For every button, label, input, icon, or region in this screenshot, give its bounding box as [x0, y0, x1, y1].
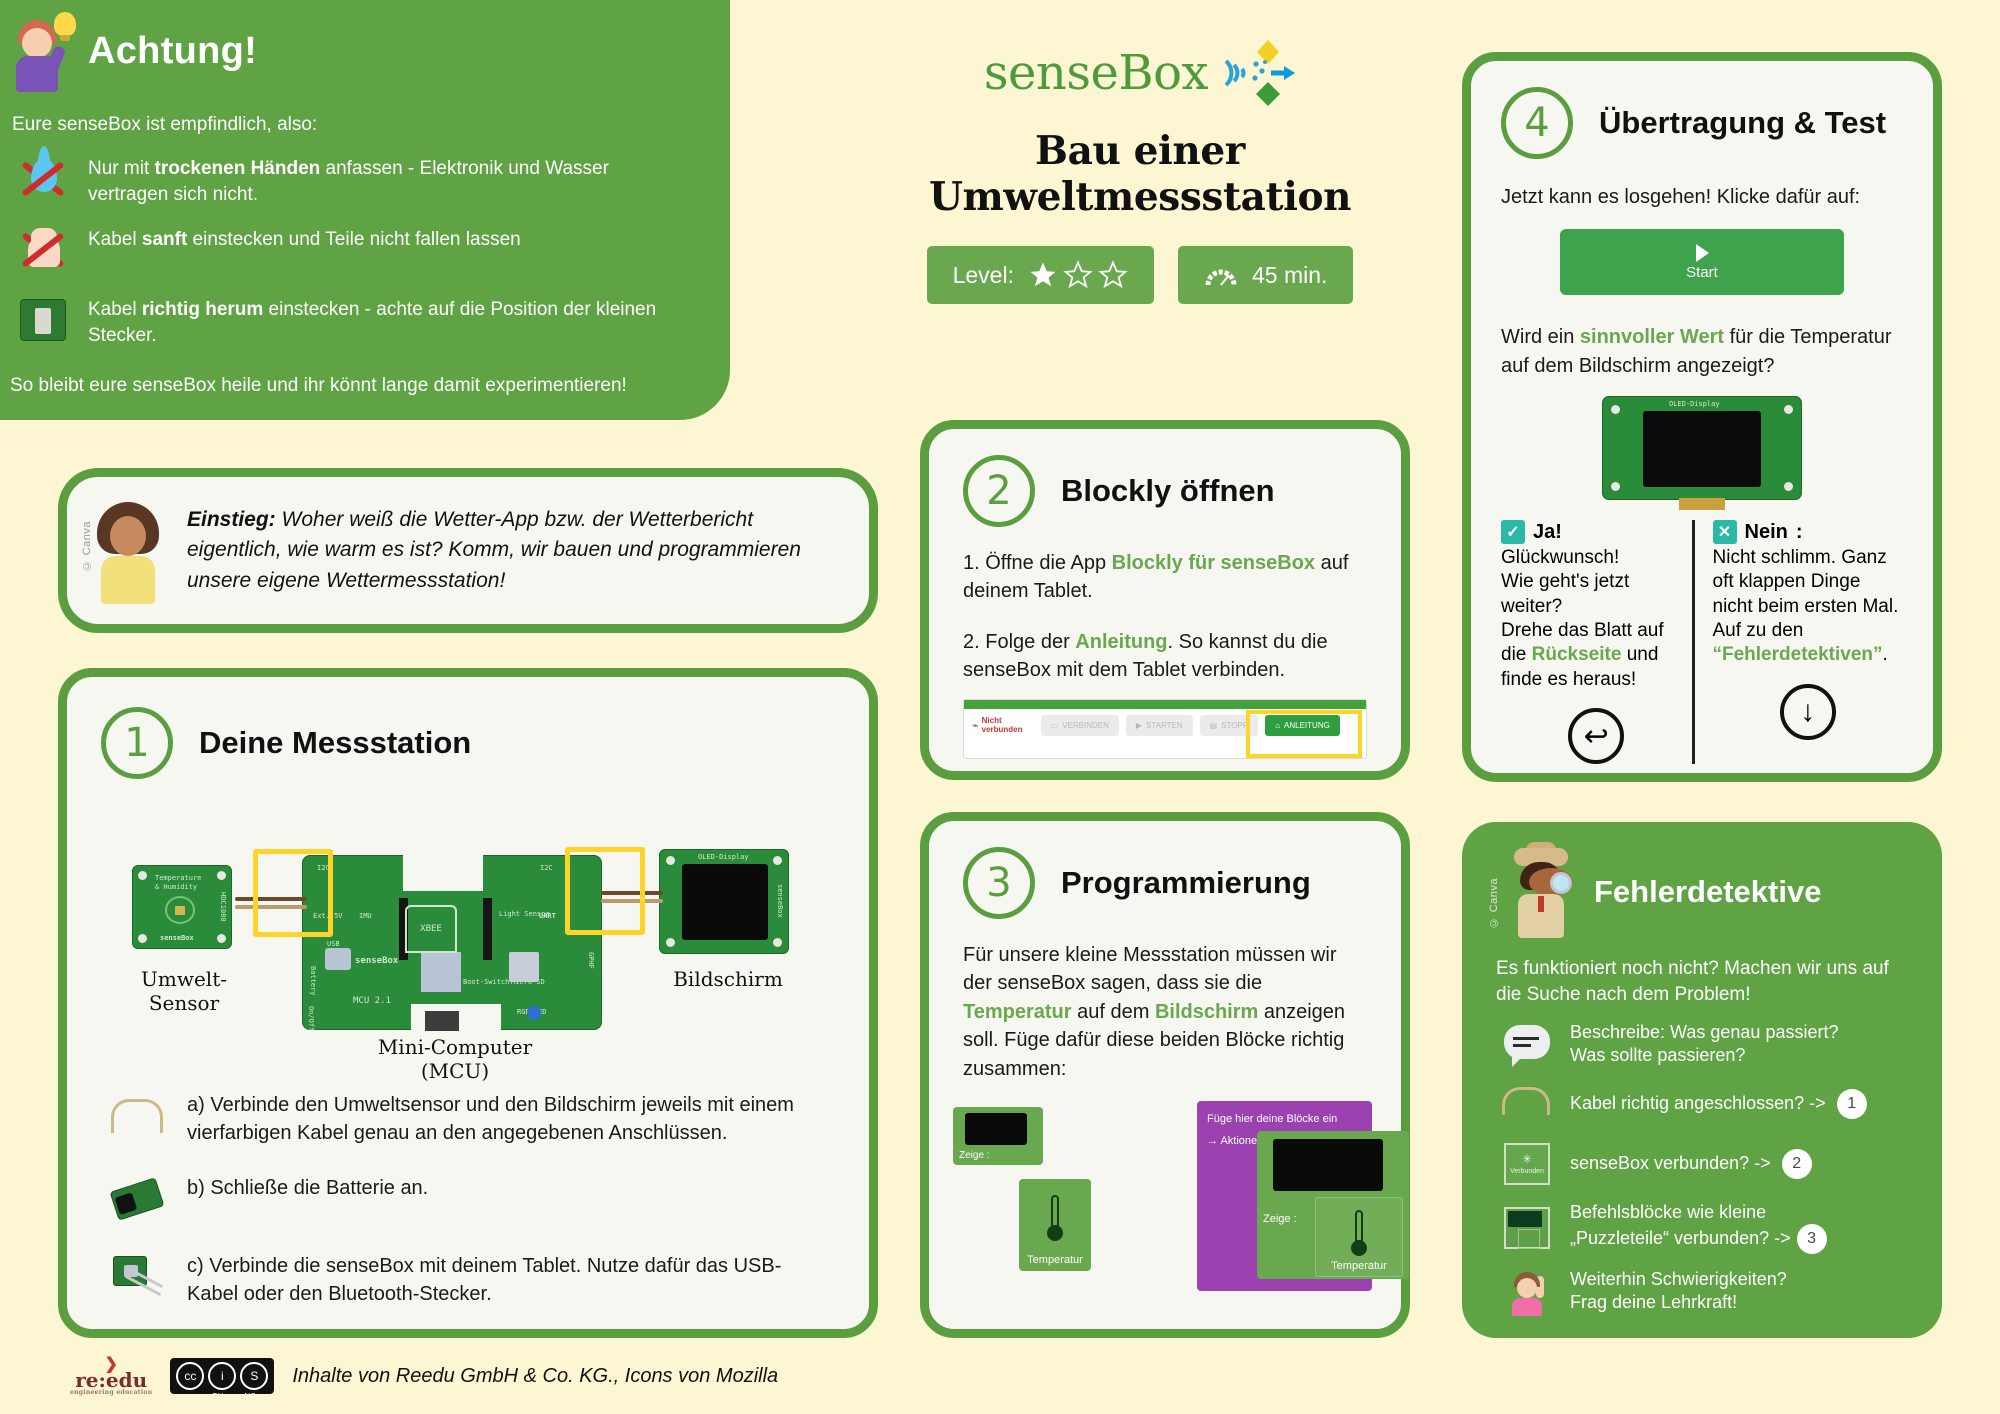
- blockly-blocks-illustration: Zeige : Temperatur Füge hier deine Blöck…: [929, 1101, 1401, 1301]
- yes-body: Glückwunsch! Wie geht's jetzt weiter? Dr…: [1501, 546, 1692, 692]
- turn-over-icon: ↩: [1568, 708, 1624, 764]
- section-3-title: Programmierung: [1061, 865, 1311, 901]
- fehlerdetektive-panel: © Canva Fehlerdetektive Es funktioniert …: [1462, 822, 1942, 1338]
- footer: ❯ re:edu engineering education cc i BY S…: [70, 1356, 778, 1396]
- bluetooth-disconnected-icon: ⌁: [972, 719, 979, 732]
- section-2-header: 2 Blockly öffnen: [929, 429, 1401, 527]
- water-drop-crossed-icon: [16, 152, 70, 206]
- yes-header: ✓ Ja!: [1501, 520, 1692, 544]
- cable-icon: [107, 1091, 169, 1143]
- section-2-step2: 2. Folge der Anleitung. So kannst du die…: [929, 628, 1401, 685]
- lightbulb-person-icon: [6, 10, 76, 92]
- duration-text: 45 min.: [1252, 262, 1327, 289]
- fehlerdetektive-header: Fehlerdetektive: [1462, 822, 1942, 940]
- sensebox-logo: senseBox: [880, 40, 1400, 106]
- section-4-card: 4 Übertragung & Test Jetzt kann es losge…: [1462, 52, 1942, 782]
- section-1-header: 1 Deine Messstation: [67, 677, 869, 779]
- play-icon: ▶: [1136, 721, 1142, 730]
- fehlerdetektive-lead: Es funktioniert noch nicht? Machen wir u…: [1462, 940, 1942, 1007]
- warning-row-water: Nur mit trockenen Händen anfassen - Elek…: [0, 136, 730, 207]
- warning-text-water: Nur mit trockenen Händen anfassen - Elek…: [88, 152, 690, 207]
- section-3-text: Für unsere kleine Messstation müssen wir…: [929, 919, 1401, 1083]
- einstieg-body: Woher weiß die Wetter-App bzw. der Wette…: [187, 508, 801, 592]
- section-4-title: Übertragung & Test: [1599, 105, 1886, 141]
- section-4-question: Wird ein sinnvoller Wert für die Tempera…: [1471, 323, 1933, 380]
- checklist-text: senseBox verbunden? -> 2: [1570, 1149, 1812, 1179]
- footer-credit-text: Inhalte von Reedu GmbH & Co. KG., Icons …: [292, 1365, 778, 1388]
- achtung-intro: Eure senseBox ist empfindlich, also:: [0, 92, 730, 136]
- step-b-text: b) Schließe die Batterie an.: [187, 1174, 428, 1202]
- step-a-text: a) Verbinde den Umweltsensor und den Bil…: [187, 1091, 829, 1148]
- oled-display-board: OLED-Display senseBox: [659, 849, 789, 954]
- checklist-text: Befehlsblöcke wie kleine „Puzzleteile“ v…: [1570, 1201, 1827, 1254]
- guide-button-highlight: [1246, 710, 1362, 758]
- poster-root: © Canva Achtung! Eure senseBox ist empfi…: [0, 0, 2000, 1414]
- puzzle-blocks-icon: [1500, 1205, 1554, 1251]
- play-icon: [1696, 244, 1709, 262]
- section-2-step1: 1. Öffne die App Blockly für senseBox au…: [929, 549, 1401, 606]
- checklist-text: Weiterhin Schwierigkeiten? Frag deine Le…: [1570, 1268, 1787, 1314]
- reedu-logo: ❯ re:edu engineering education: [70, 1356, 152, 1396]
- achtung-outro: So bleibt eure senseBox heile und ihr kö…: [0, 349, 730, 397]
- connection-highlight-right: [565, 847, 645, 935]
- bluetooth-connected-icon: ✳Verbunden: [1500, 1141, 1554, 1187]
- level-badge: Level:: [927, 246, 1154, 304]
- duration-badge: 45 min.: [1178, 246, 1353, 304]
- level-label: Level:: [953, 262, 1014, 289]
- step-number-3: 3: [963, 847, 1035, 919]
- checklist-text: Beschreibe: Was genau passiert? Was soll…: [1570, 1021, 1838, 1067]
- block-container-actions: Füge hier deine Blöcke ein → Aktionen Ze…: [1197, 1101, 1372, 1291]
- ref-number: 3: [1797, 1224, 1827, 1254]
- block-display: Zeige :: [953, 1107, 1043, 1165]
- yes-no-block: ✓ Ja! Glückwunsch! Wie geht's jetzt weit…: [1501, 520, 1903, 764]
- achtung-title: Achtung!: [88, 30, 257, 73]
- section-2-title: Blockly öffnen: [1061, 473, 1275, 509]
- creative-commons-badge: cc i BY S NC: [170, 1358, 274, 1394]
- fehlerdetektive-title: Fehlerdetektive: [1594, 874, 1821, 910]
- close-icon: ✕: [1713, 520, 1737, 544]
- checklist-item-blocks: Befehlsblöcke wie kleine „Puzzleteile“ v…: [1462, 1187, 1942, 1254]
- cable-icon: [1500, 1081, 1554, 1127]
- step-c-text: c) Verbinde die senseBox mit deinem Tabl…: [187, 1252, 829, 1309]
- star-empty-icon: [1063, 260, 1093, 290]
- no-body: Nicht schlimm. Ganz oft klappen Dinge ni…: [1713, 546, 1904, 668]
- checklist-item-describe: Beschreibe: Was genau passiert? Was soll…: [1462, 1007, 1942, 1067]
- yes-column: ✓ Ja! Glückwunsch! Wie geht's jetzt weit…: [1501, 520, 1692, 764]
- thinking-person-icon: [89, 496, 169, 606]
- einstieg-card: © Canva Einstieg: Woher weiß die Wetter-…: [58, 468, 878, 633]
- einstieg-label: Einstieg:: [187, 508, 276, 531]
- no-header: ✕ Nein:: [1713, 520, 1904, 544]
- board-diagram: Temperature & Humidity senseBox HDC1080 …: [67, 787, 869, 1087]
- star-filled-icon: [1028, 260, 1058, 290]
- label-environment-sensor: Umwelt- Sensor: [119, 967, 249, 1015]
- raised-hand-person-icon: [1500, 1268, 1554, 1314]
- achtung-header: Achtung!: [0, 0, 730, 92]
- sensebox-logo-mark-icon: [1222, 40, 1296, 106]
- usb-bluetooth-icon: [107, 1252, 169, 1304]
- step-number-2: 2: [963, 455, 1035, 527]
- ref-number: 2: [1782, 1149, 1812, 1179]
- star-empty-icon: [1098, 260, 1128, 290]
- start-button-label: Start: [1686, 264, 1718, 281]
- checklist-item-cable: Kabel richtig angeschlossen? -> 1: [1462, 1067, 1942, 1127]
- gauge-icon: [1204, 260, 1238, 290]
- connector-chip-icon: [16, 293, 70, 347]
- checkmark-icon: ✓: [1501, 520, 1525, 544]
- level-stars: [1028, 260, 1128, 290]
- step-a: a) Verbinde den Umweltsensor und den Bil…: [107, 1091, 829, 1148]
- label-display: Bildschirm: [653, 967, 803, 991]
- warning-row-connector: Kabel richtig herum einstecken - achte a…: [0, 277, 730, 348]
- speech-bubble-icon: [1500, 1021, 1554, 1067]
- label-mcu: Mini-Computer (MCU): [335, 1035, 575, 1083]
- section-3-card: 3 Programmierung Für unsere kleine Messs…: [920, 812, 1410, 1338]
- battery-icon: [107, 1174, 169, 1226]
- warning-row-hand: Kabel sanft einstecken und Teile nicht f…: [0, 207, 730, 277]
- step-b: b) Schließe die Batterie an.: [107, 1174, 829, 1226]
- warning-text-connector: Kabel richtig herum einstecken - achte a…: [88, 293, 690, 348]
- section-3-header: 3 Programmierung: [929, 821, 1401, 919]
- arrow-down-icon: ↓: [1780, 684, 1836, 740]
- cc-icon: cc: [176, 1362, 204, 1390]
- connection-status: Nicht verbunden: [982, 716, 1034, 734]
- warning-text-hand: Kabel sanft einstecken und Teile nicht f…: [88, 223, 521, 253]
- checklist-item-connection: ✳Verbunden senseBox verbunden? -> 2: [1462, 1127, 1942, 1187]
- start-button[interactable]: Start: [1560, 229, 1844, 295]
- section-4-header: 4 Übertragung & Test: [1471, 61, 1933, 159]
- section-2-card: 2 Blockly öffnen 1. Öffne die App Blockl…: [920, 420, 1410, 780]
- start-button[interactable]: ▶STARTEN: [1126, 715, 1193, 736]
- xbee-slot-label: XBEE: [405, 905, 457, 953]
- oled-display-photo: OLED-Display: [1602, 396, 1802, 500]
- page-title: Bau einer Umweltmessstation: [880, 128, 1400, 220]
- detective-person-icon: [1506, 844, 1576, 940]
- cc-by-icon: i: [208, 1362, 236, 1390]
- connection-highlight-left: [253, 849, 333, 937]
- hand-crossed-icon: [16, 223, 70, 277]
- checklist-item-teacher: Weiterhin Schwierigkeiten? Frag deine Le…: [1462, 1254, 1942, 1314]
- achtung-panel: © Canva Achtung! Eure senseBox ist empfi…: [0, 0, 730, 420]
- block-display-nested: Zeige : Temperatur: [1257, 1131, 1409, 1279]
- sensebox-logo-text: senseBox: [984, 45, 1208, 101]
- poster-header: senseBox Bau einer Umweltmessstation Lev: [880, 40, 1400, 304]
- blockly-toolbar-mockup: ⌁ Nicht verbunden ▭VERBINDEN ▶STARTEN ▤S…: [963, 699, 1367, 759]
- block-temperature: Temperatur: [1019, 1179, 1091, 1271]
- section-1-title: Deine Messstation: [199, 725, 471, 761]
- step-c: c) Verbinde die senseBox mit deinem Tabl…: [107, 1252, 829, 1309]
- cc-nc-icon: S: [240, 1362, 268, 1390]
- connect-button[interactable]: ▭VERBINDEN: [1041, 715, 1119, 736]
- einstieg-text: Einstieg: Woher weiß die Wetter-App bzw.…: [187, 505, 843, 596]
- section-1-card: 1 Deine Messstation Temperature & Humidi…: [58, 668, 878, 1338]
- checklist-text: Kabel richtig angeschlossen? -> 1: [1570, 1089, 1867, 1119]
- ref-number: 1: [1837, 1089, 1867, 1119]
- environment-sensor-board: Temperature & Humidity senseBox HDC1080: [132, 865, 232, 949]
- meta-badges: Level: 45 min.: [880, 246, 1400, 304]
- monitor-icon: ▭: [1051, 721, 1059, 730]
- step-number-1: 1: [101, 707, 173, 779]
- canva-credit: © Canva: [1488, 878, 1500, 928]
- block-temperature-nested: Temperatur: [1315, 1197, 1403, 1277]
- no-column: ✕ Nein: Nicht schlimm. Ganz oft klappen …: [1692, 520, 1904, 764]
- stop-icon: ▤: [1210, 721, 1218, 730]
- step-number-4: 4: [1501, 87, 1573, 159]
- section-4-intro: Jetzt kann es losgehen! Klicke dafür auf…: [1471, 183, 1933, 211]
- section-1-steps: a) Verbinde den Umweltsensor und den Bil…: [67, 1087, 869, 1309]
- reedu-logo-sub: engineering education: [70, 1390, 152, 1396]
